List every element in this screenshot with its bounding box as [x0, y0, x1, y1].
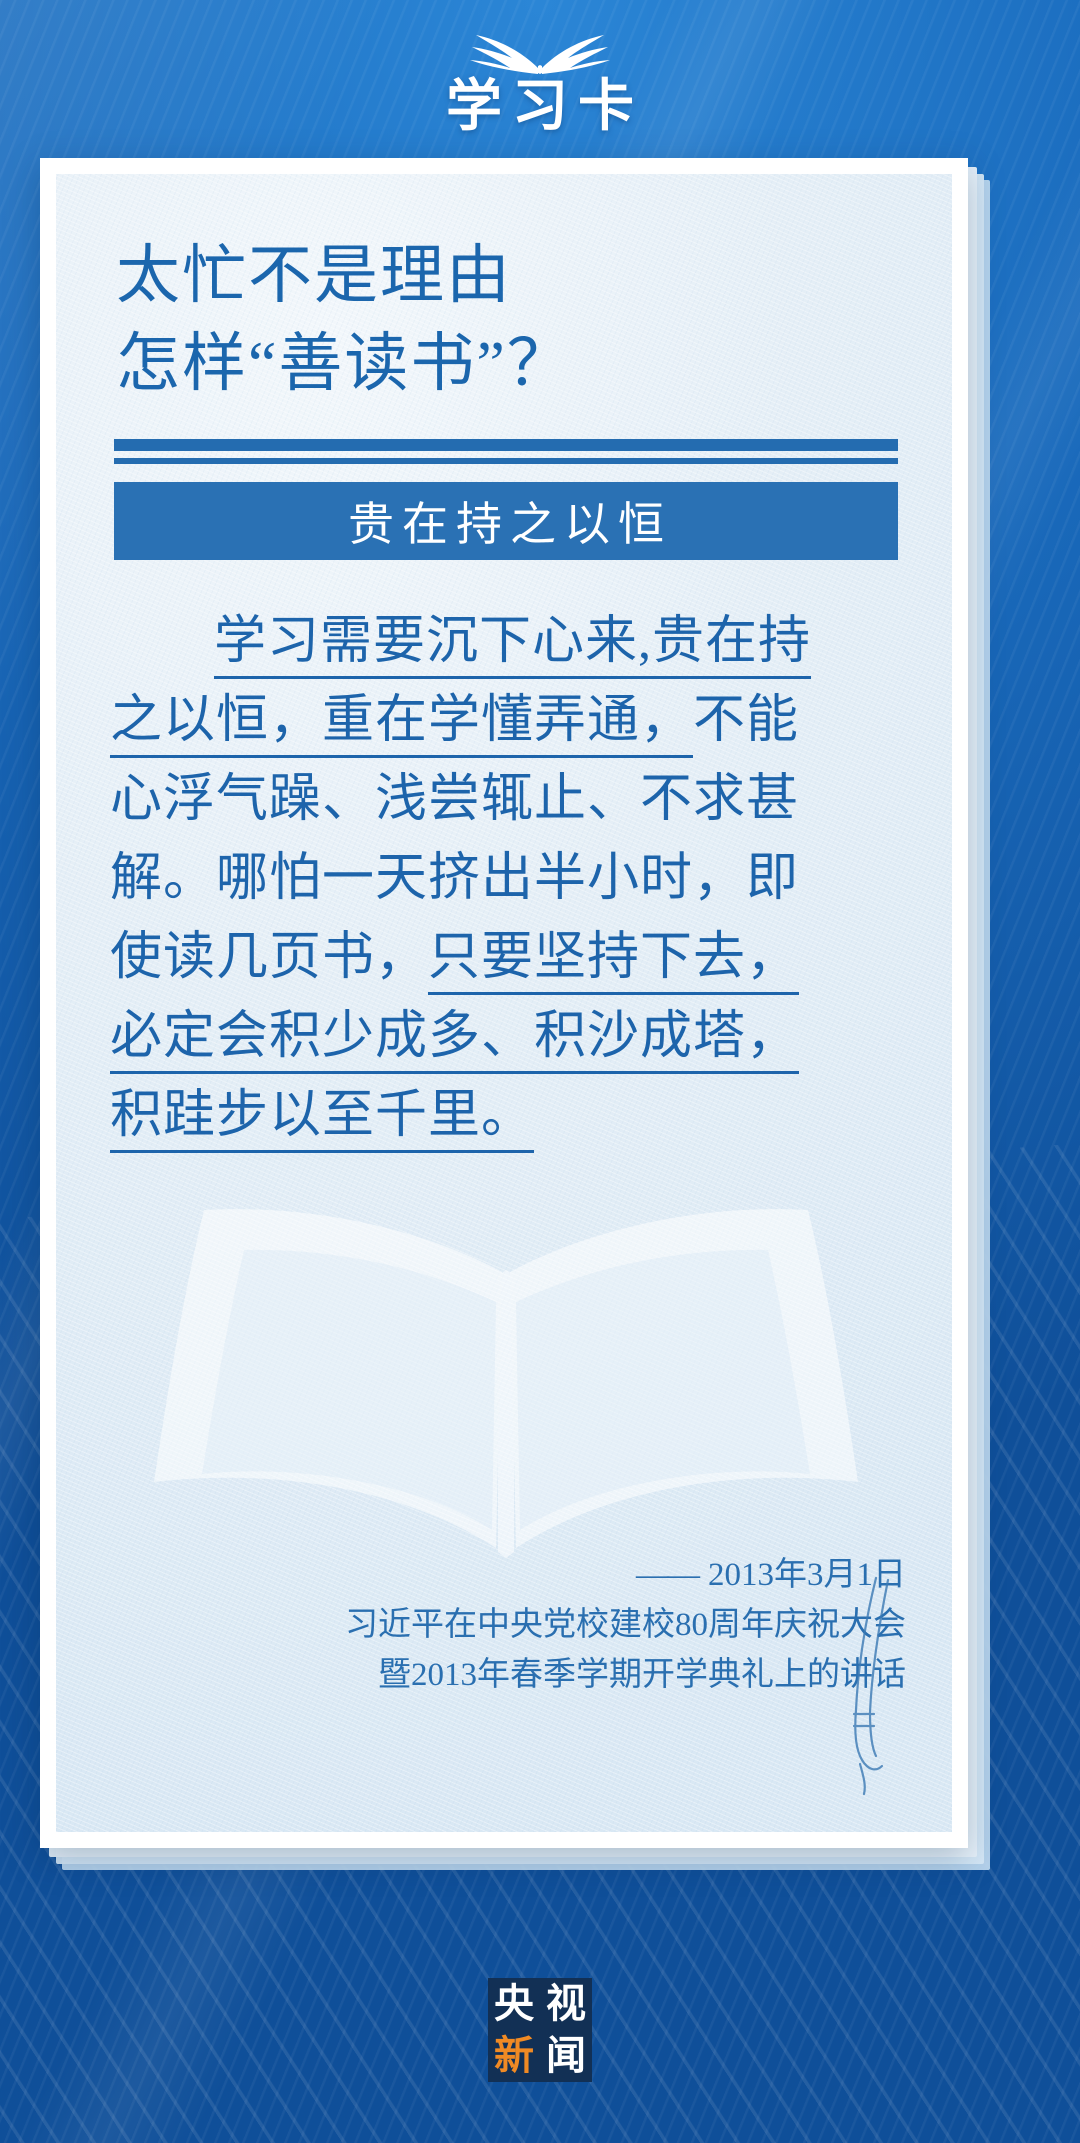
quote-line-5-segment-1: 使读几页书， [110, 929, 428, 986]
quote-line-5: 使读几页书，只要坚持下去， [110, 918, 898, 997]
quote-line-2-segment-2: 不能 [693, 692, 799, 749]
card-paper: 太忙不是理由 怎样“善读书”？ 贵在持之以恒 学习需要沉下心来,贵在持之以恒，重… [56, 174, 952, 1832]
divider-thin [114, 458, 898, 464]
headline-line-2: 怎样“善读书”？ [116, 320, 898, 408]
quote-line-1-segment-1: 学习需要沉下心来,贵在持 [214, 613, 811, 679]
quote-line-7: 积跬步以至千里。 [110, 1076, 898, 1155]
quote-line-2-segment-1: 之以恒，重在学懂弄通， [110, 692, 693, 758]
quote-line-2: 之以恒，重在学懂弄通，不能 [110, 681, 898, 760]
cctv-logo-char-2: 视 [546, 1984, 586, 2024]
divider-thick [114, 439, 898, 451]
quote-line-6-segment-1: 必定会积少成多、积沙成塔， [110, 1008, 799, 1074]
headline: 太忙不是理由 怎样“善读书”？ [110, 232, 898, 409]
section-banner-label: 贵在持之以恒 [340, 488, 672, 554]
cctv-news-logo[interactable]: 央视新闻 [488, 1978, 592, 2082]
section-banner: 贵在持之以恒 [114, 482, 898, 560]
quote-line-1: 学习需要沉下心来,贵在持 [110, 602, 898, 681]
calligraphy-brush-icon [804, 1574, 924, 1804]
open-book-icon [452, 22, 628, 74]
quote-card: 太忙不是理由 怎样“善读书”？ 贵在持之以恒 学习需要沉下心来,贵在持之以恒，重… [40, 158, 968, 1848]
page-title: 学习卡 [436, 78, 644, 137]
cctv-logo-char-4: 闻 [546, 2036, 586, 2076]
quote-line-4-segment-1: 解。哪怕一天挤出半小时，即 [110, 850, 799, 907]
quote-line-3-segment-1: 心浮气躁、浅尝辄止、不求甚 [110, 771, 799, 828]
quote-line-6: 必定会积少成多、积沙成塔， [110, 997, 898, 1076]
attribution-dash: —— [636, 1557, 698, 1593]
cctv-logo-char-1: 央 [494, 1984, 534, 2024]
quote-line-4: 解。哪怕一天挤出半小时，即 [110, 839, 898, 918]
quote-line-3: 心浮气躁、浅尝辄止、不求甚 [110, 760, 898, 839]
quote-line-5-segment-2: 只要坚持下去， [428, 929, 799, 995]
divider-gap [114, 451, 898, 458]
headline-line-1: 太忙不是理由 [116, 232, 898, 320]
quote-body: 学习需要沉下心来,贵在持之以恒，重在学懂弄通，不能心浮气躁、浅尝辄止、不求甚解。… [110, 602, 898, 1155]
divider-rules [110, 439, 898, 464]
quote-line-7-segment-1: 积跬步以至千里。 [110, 1087, 534, 1153]
cctv-logo-char-3: 新 [494, 2036, 534, 2076]
card-stack: 太忙不是理由 怎样“善读书”？ 贵在持之以恒 学习需要沉下心来,贵在持之以恒，重… [40, 158, 1040, 1898]
header: 学习卡 [0, 0, 1080, 150]
